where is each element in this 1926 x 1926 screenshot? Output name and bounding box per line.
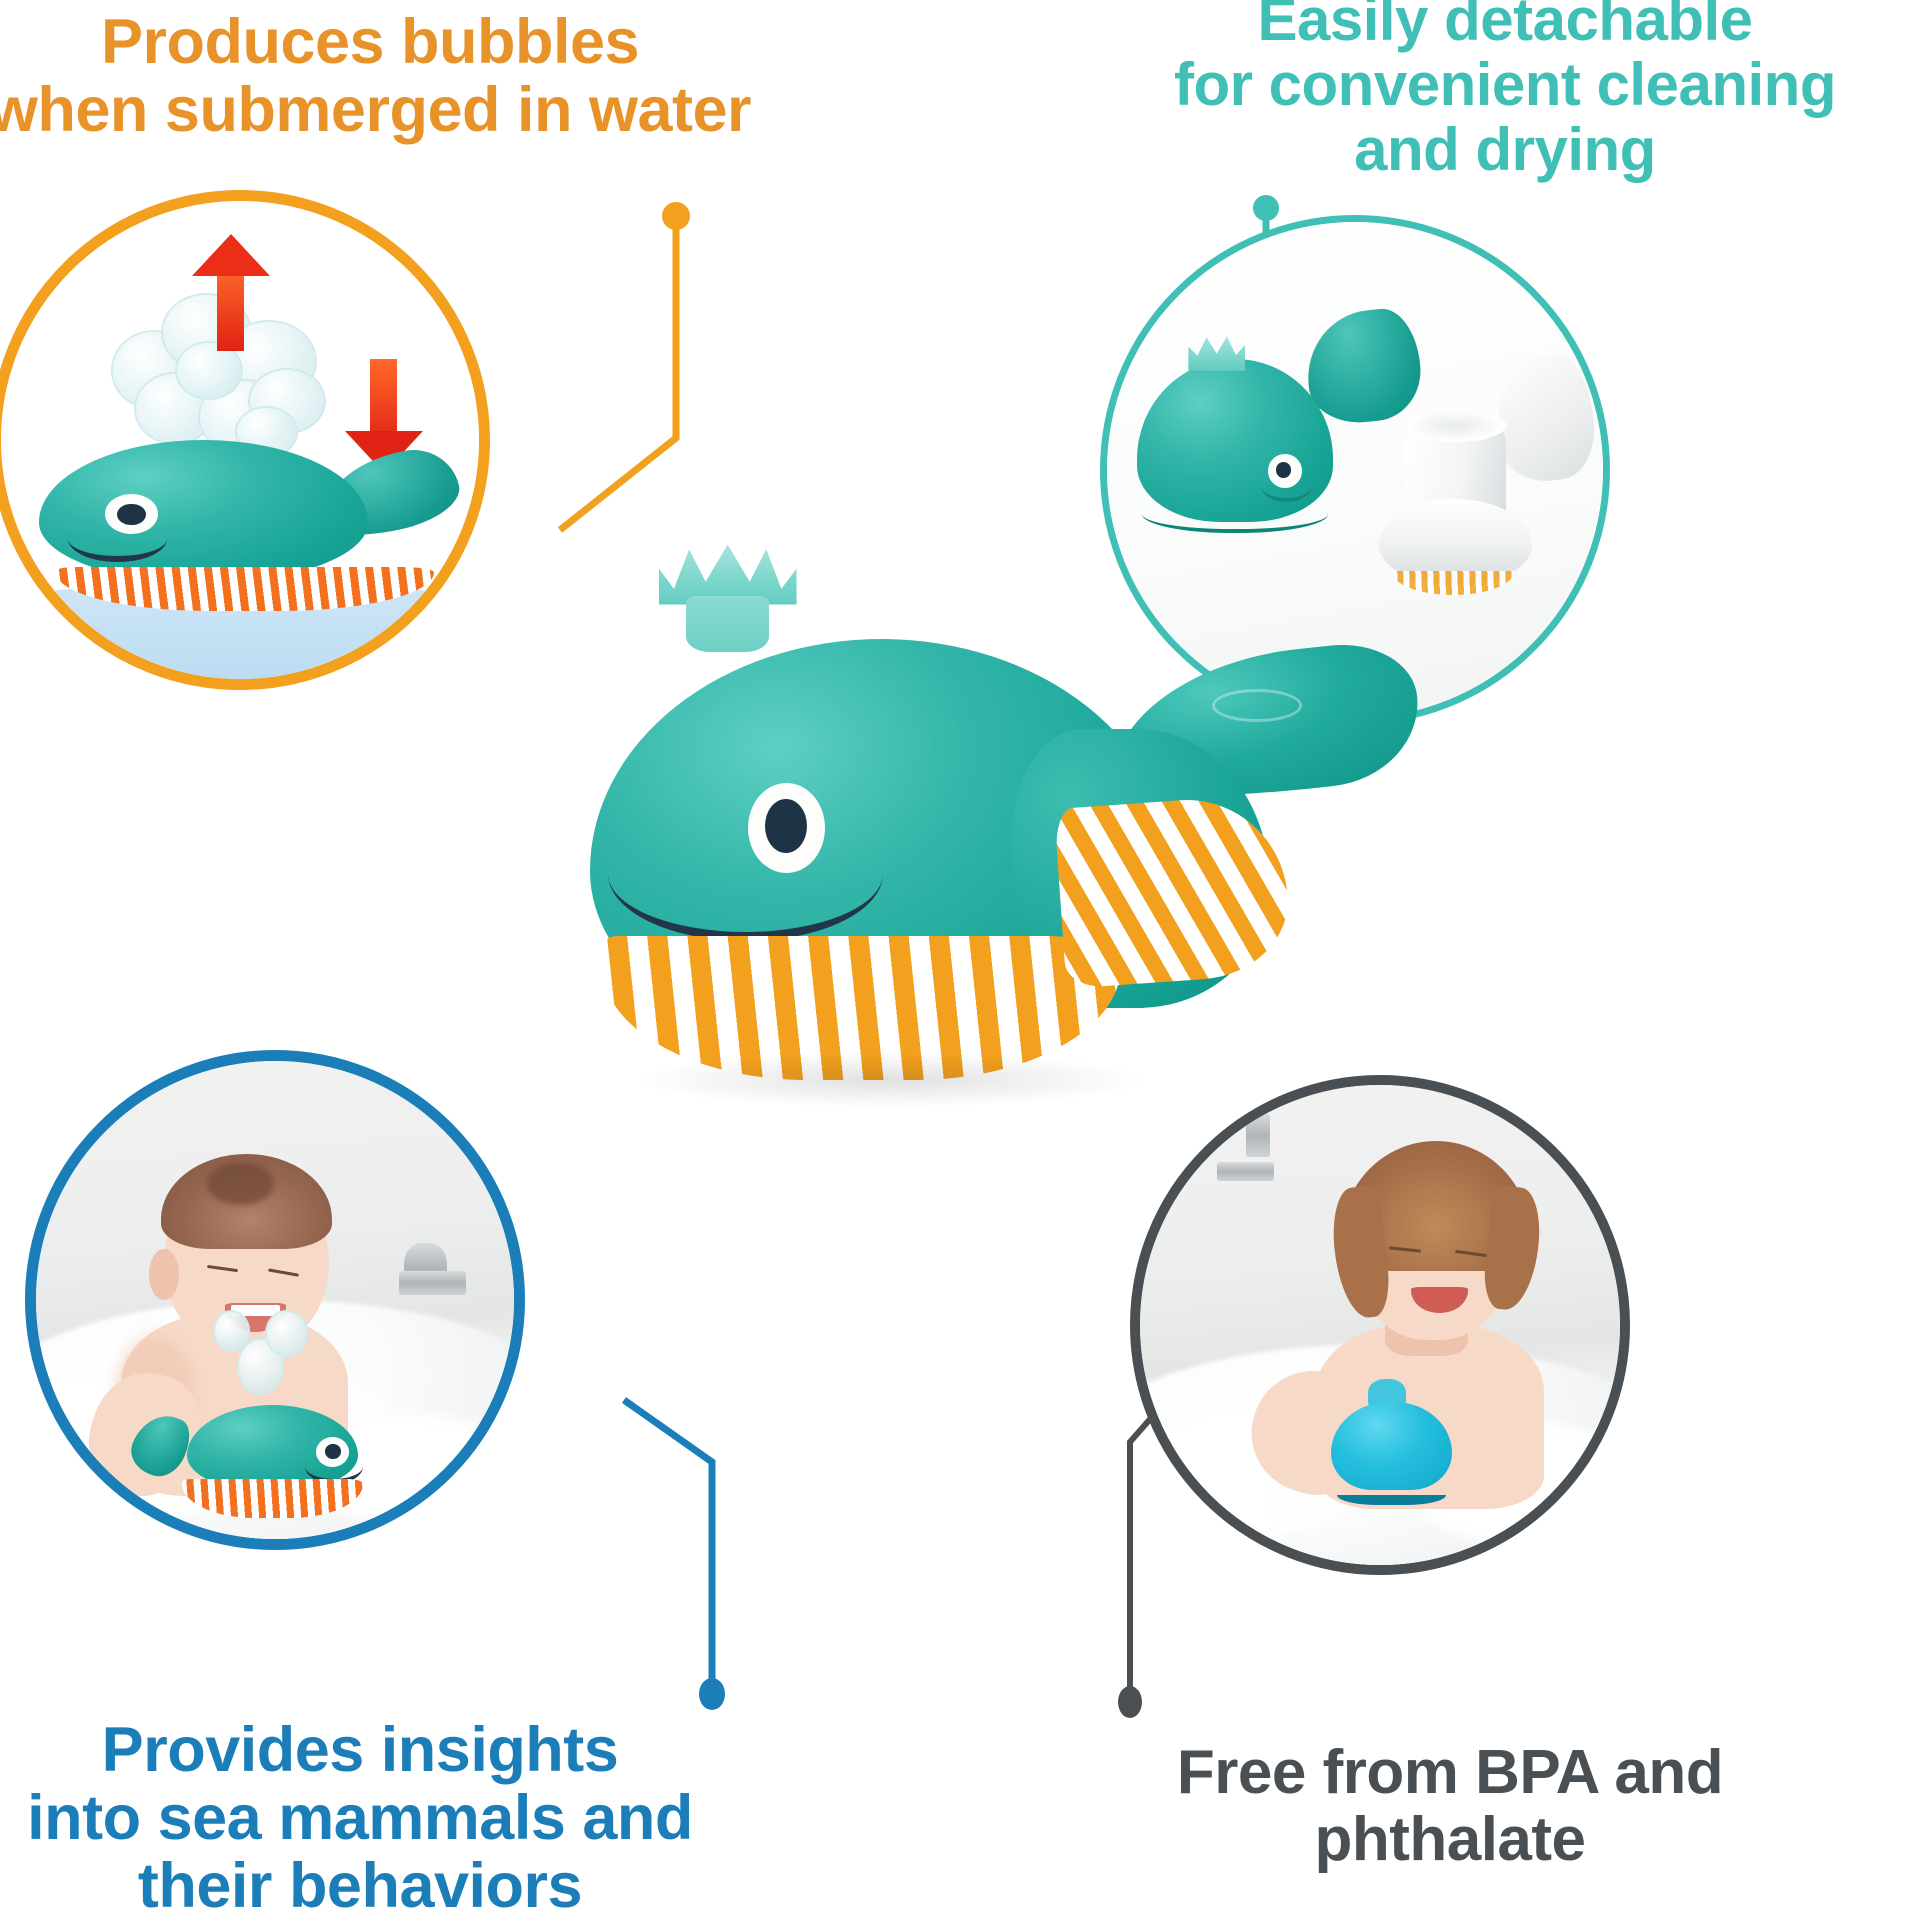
girl-bath-scene — [1140, 1085, 1620, 1565]
whale-toy-in-bubbles — [1322, 1402, 1466, 1508]
leader-line-insights — [624, 1400, 725, 1710]
infographic-canvas: Produces bubbles when submerged in water… — [0, 0, 1926, 1926]
baby-bath-scene — [36, 1061, 514, 1539]
faucet-icon — [1246, 1114, 1270, 1157]
faucet-spout-icon — [399, 1271, 466, 1295]
callout-circle-bubbles — [0, 190, 490, 690]
toy-bubble — [213, 1310, 250, 1352]
whale-toy-held-by-baby — [160, 1405, 380, 1520]
leader-line-bubbles — [560, 202, 690, 530]
hero-whale-toy — [590, 630, 1400, 1080]
hero-shadow — [639, 1053, 1141, 1107]
whale-belly-stripes — [56, 567, 434, 611]
whale-body — [39, 440, 368, 582]
whale-toy-small-bubbles — [39, 440, 450, 622]
bubbles-scene — [1, 201, 479, 679]
white-base-piece — [1375, 371, 1593, 609]
faucet-handle-icon — [1217, 1162, 1275, 1181]
up-arrow-icon — [192, 234, 268, 349]
toy-bubble — [265, 1310, 307, 1357]
callout-circle-bpa — [1130, 1075, 1630, 1575]
hero-crown-spout — [659, 545, 797, 649]
callout-circle-insights — [25, 1050, 525, 1550]
whale-top-shell — [1137, 331, 1395, 529]
crown-spout-icon — [1188, 335, 1245, 371]
hero-pupil — [765, 799, 807, 853]
